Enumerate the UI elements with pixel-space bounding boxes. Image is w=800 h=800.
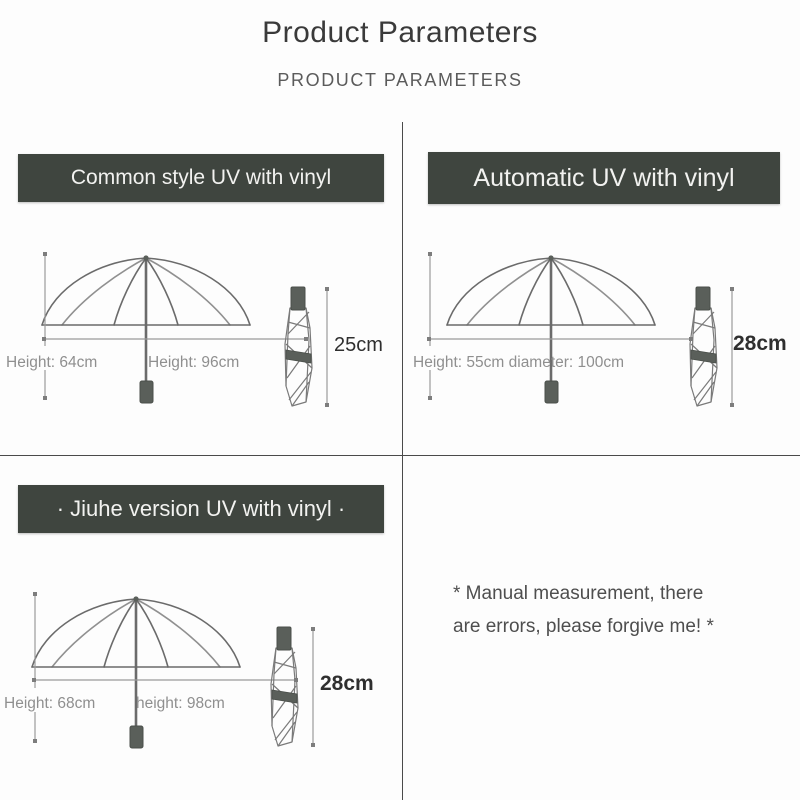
panel-disclaimer: * Manual measurement, there are errors, … (403, 457, 800, 800)
panel-label-text: Common style UV with vinyl (71, 166, 331, 190)
note-line-2: are errors, please forgive me! * (453, 610, 773, 643)
dimension-label-height-right: height: 98cm (136, 695, 225, 713)
dimension-label-folded: 28cm (320, 672, 374, 696)
open-umbrella-icon (18, 587, 268, 752)
open-umbrella-icon (28, 247, 278, 407)
panel-common-style: Common style UV with vinyl (0, 122, 402, 455)
dimension-line-icon (30, 675, 300, 685)
dimension-label-folded: 28cm (733, 332, 787, 356)
panel-automatic: Automatic UV with vinyl (403, 122, 800, 455)
page-title: Product Parameters (0, 16, 800, 50)
panel-label-text: · Jiuhe version UV with vinyl · (57, 496, 346, 522)
dimension-line-icon (425, 334, 695, 344)
dimension-line-icon (322, 285, 332, 409)
dimension-line-icon (40, 334, 310, 344)
dimension-label-height-left: Height: 64cm (6, 354, 97, 372)
panel-label-text: Automatic UV with vinyl (473, 164, 734, 193)
manual-measurement-note: * Manual measurement, there are errors, … (453, 577, 773, 644)
open-umbrella-icon (433, 247, 683, 407)
dimension-line-icon (38, 250, 52, 402)
panel-label-common-style: Common style UV with vinyl (18, 154, 384, 202)
folded-umbrella-icon (681, 282, 729, 412)
product-parameters-page: Product Parameters PRODUCT PARAMETERS Co… (0, 0, 800, 800)
dimension-line-icon (308, 625, 318, 749)
page-subtitle: PRODUCT PARAMETERS (0, 70, 800, 91)
dimension-line-icon (28, 590, 42, 745)
folded-umbrella-icon (262, 622, 310, 752)
dimension-label-folded: 25cm (334, 334, 383, 357)
panel-label-automatic: Automatic UV with vinyl (428, 152, 780, 204)
panel-label-jiuhe: · Jiuhe version UV with vinyl · (18, 485, 384, 533)
dimension-line-icon (423, 250, 437, 402)
note-line-1: * Manual measurement, there (453, 577, 773, 610)
dimension-label-height-left: Height: 68cm (4, 695, 95, 713)
dimension-label-height-right: Height: 96cm (148, 354, 239, 372)
dimension-label-open: Height: 55cm diameter: 100cm (413, 354, 624, 372)
folded-umbrella-icon (276, 282, 324, 412)
panel-jiuhe-version: · Jiuhe version UV with vinyl · (0, 457, 402, 800)
